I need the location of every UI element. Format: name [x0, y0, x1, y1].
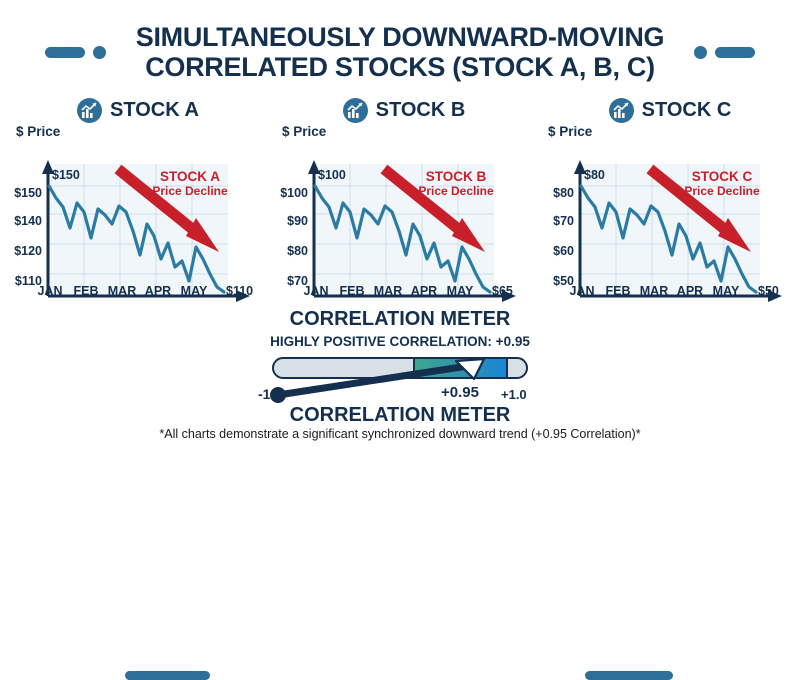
x-tick-label: MAR	[368, 284, 408, 298]
gauge-needle[interactable]	[260, 353, 520, 403]
chart-title-stock-c: STOCK C	[642, 99, 732, 122]
correlation-meter-title-bottom: CORRELATION METER	[0, 404, 800, 427]
dot-icon	[93, 46, 106, 59]
decline-annotation-stock-b: STOCK B Price Decline	[406, 170, 506, 198]
x-tick-label: FEB	[332, 284, 372, 298]
header-decoration-left	[45, 46, 106, 59]
gauge-value-label: +0.95	[441, 384, 479, 401]
x-tick-label: FEB	[598, 284, 638, 298]
chart-header-stock-b: STOCK B	[276, 96, 532, 124]
start-value-label: $100	[318, 168, 346, 182]
chart-card-stock-a: STOCK A $ Price $150 $140 $120 $110	[0, 96, 266, 306]
header-decoration-right	[694, 46, 755, 59]
correlation-meter-title: CORRELATION METER	[0, 308, 800, 331]
annotation-line-1: STOCK B	[406, 170, 506, 184]
decoration-bar-left	[125, 671, 210, 680]
x-tick-label: MAR	[102, 284, 142, 298]
correlation-meter-section: CORRELATION METER HIGHLY POSITIVE CORREL…	[0, 308, 800, 418]
start-value-label: $150	[52, 168, 80, 182]
x-tick-label: JAN	[30, 284, 70, 298]
chart-card-stock-b: STOCK B $ Price $100 $90 $80 $70	[266, 96, 532, 306]
chart-title-stock-b: STOCK B	[376, 99, 466, 122]
dot-icon	[694, 46, 707, 59]
annotation-line-2: Price Decline	[672, 184, 772, 198]
gauge-max-label: +1.0	[501, 387, 527, 402]
start-value-label: $80	[584, 168, 605, 182]
decoration-bar-right	[585, 671, 673, 680]
bar-chart-up-icon	[609, 98, 634, 123]
bar-chart-up-icon	[77, 98, 102, 123]
annotation-line-1: STOCK A	[140, 170, 240, 184]
x-tick-label: FEB	[66, 284, 106, 298]
x-tick-label: APR	[404, 284, 444, 298]
x-tick-label: APR	[670, 284, 710, 298]
annotation-line-2: Price Decline	[140, 184, 240, 198]
plot-area-stock-a: $ Price $150 $140 $120 $110	[0, 124, 266, 306]
decline-annotation-stock-c: STOCK C Price Decline	[672, 170, 772, 198]
end-value-label: $65	[492, 284, 513, 298]
footnote: *All charts demonstrate a significant sy…	[0, 427, 800, 441]
chart-header-stock-a: STOCK A	[10, 96, 266, 124]
annotation-line-1: STOCK C	[672, 170, 772, 184]
x-tick-label: MAY	[440, 284, 480, 298]
pill-bar-icon	[715, 47, 755, 58]
page-header: SIMULTANEOUSLY DOWNWARD-MOVING CORRELATE…	[0, 22, 800, 82]
end-value-label: $110	[226, 284, 253, 298]
bar-chart-up-icon	[343, 98, 368, 123]
annotation-line-2: Price Decline	[406, 184, 506, 198]
gauge-min-label: -1.0	[258, 386, 282, 402]
x-tick-label: APR	[138, 284, 178, 298]
chart-card-stock-c: STOCK C $ Price $80 $70 $60 $50	[532, 96, 798, 306]
page-title: SIMULTANEOUSLY DOWNWARD-MOVING CORRELATE…	[120, 22, 680, 82]
decline-annotation-stock-a: STOCK A Price Decline	[140, 170, 240, 198]
chart-title-stock-a: STOCK A	[110, 99, 199, 122]
x-tick-label: MAY	[174, 284, 214, 298]
x-tick-label: MAR	[634, 284, 674, 298]
plot-area-stock-c: $ Price $80 $70 $60 $50	[532, 124, 798, 306]
correlation-subtitle: HIGHLY POSITIVE CORRELATION: +0.95	[0, 334, 800, 349]
x-tick-label: MAY	[706, 284, 746, 298]
x-tick-label: JAN	[562, 284, 602, 298]
plot-area-stock-b: $ Price $100 $90 $80 $70	[266, 124, 532, 306]
pill-bar-icon	[45, 47, 85, 58]
x-tick-label: JAN	[296, 284, 336, 298]
charts-row: STOCK A $ Price $150 $140 $120 $110	[0, 96, 800, 306]
end-value-label: $50	[758, 284, 779, 298]
chart-header-stock-c: STOCK C	[542, 96, 798, 124]
